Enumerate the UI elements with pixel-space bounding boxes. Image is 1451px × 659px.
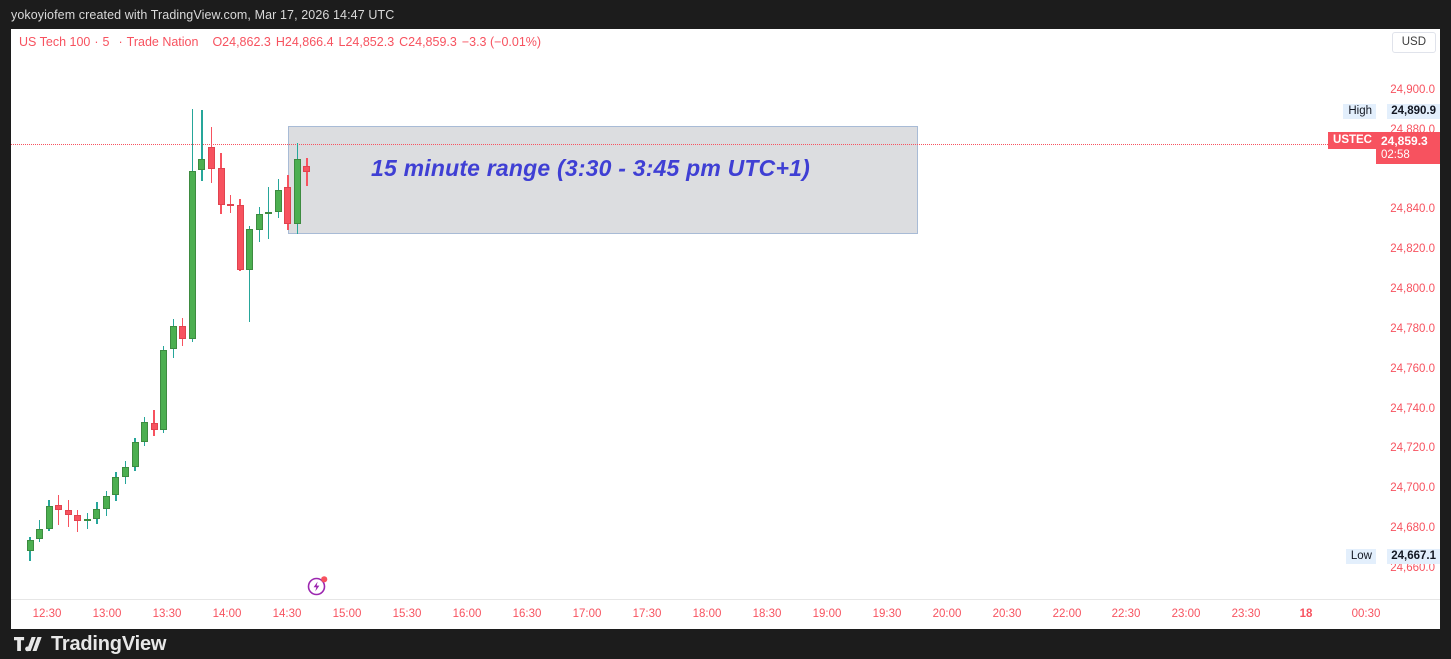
candle-body — [218, 168, 225, 204]
candle-body — [179, 326, 186, 340]
candle-body — [208, 147, 215, 169]
candlestick-series — [11, 29, 1376, 599]
bar-countdown: 02:58 — [1381, 149, 1436, 161]
candle-body — [93, 509, 100, 519]
price-tick: 24,740.0 — [1390, 403, 1435, 415]
candle-body — [227, 204, 234, 206]
time-tick: 20:30 — [993, 608, 1022, 620]
candle-body — [303, 166, 310, 172]
time-tick: 19:00 — [813, 608, 842, 620]
price-tick: 24,820.0 — [1390, 243, 1435, 255]
price-tick: 24,680.0 — [1390, 522, 1435, 534]
legend-interval[interactable]: 5 — [103, 35, 110, 49]
legend-low: L24,852.3 — [339, 35, 395, 49]
time-tick: 23:00 — [1172, 608, 1201, 620]
time-tick: 18:30 — [753, 608, 782, 620]
candle-body — [84, 519, 91, 521]
time-tick: 15:00 — [333, 608, 362, 620]
price-tick: 24,700.0 — [1390, 482, 1435, 494]
time-tick: 22:30 — [1112, 608, 1141, 620]
candle-body — [198, 159, 205, 170]
time-tick: 13:30 — [153, 608, 182, 620]
candle-body — [151, 423, 158, 430]
legend-close: C24,859.3 — [399, 35, 457, 49]
candle-body — [46, 506, 53, 529]
last-price-badge[interactable]: 24,859.3 02:58 — [1376, 132, 1440, 164]
candle-body — [122, 467, 129, 476]
candle-body — [246, 229, 253, 270]
time-tick: 16:30 — [513, 608, 542, 620]
candle-body — [189, 171, 196, 339]
time-tick: 19:30 — [873, 608, 902, 620]
candle-body — [36, 529, 43, 539]
chart-legend[interactable]: US Tech 100 · 5 · Trade Nation O24,862.3… — [19, 35, 546, 49]
time-scale[interactable]: 12:3013:0013:3014:0014:3015:0015:3016:00… — [11, 599, 1440, 629]
candle-wick — [201, 110, 202, 181]
price-tick: 24,900.0 — [1390, 84, 1435, 96]
candle-body — [103, 496, 110, 509]
time-tick: 18:00 — [693, 608, 722, 620]
attribution-text: yokoyiofem created with TradingView.com,… — [0, 8, 394, 22]
time-tick: 17:00 — [573, 608, 602, 620]
candle-body — [112, 477, 119, 495]
time-tick: 20:00 — [933, 608, 962, 620]
attribution-bar: yokoyiofem created with TradingView.com,… — [0, 0, 1451, 29]
legend-symbol[interactable]: US Tech 100 — [19, 35, 90, 49]
time-tick: 14:00 — [213, 608, 242, 620]
currency-badge[interactable]: USD — [1392, 32, 1436, 53]
price-scale[interactable]: USD 24,900.024,880.024,840.024,820.024,8… — [1376, 29, 1440, 599]
candle-body — [237, 205, 244, 270]
tradingview-logo-text: TradingView — [51, 633, 166, 656]
legend-separator-2: · — [118, 35, 122, 49]
legend-exchange[interactable]: Trade Nation — [127, 35, 199, 49]
candle-body — [170, 326, 177, 349]
candle-body — [275, 190, 282, 212]
tradingview-chart-screenshot: yokoyiofem created with TradingView.com,… — [0, 0, 1451, 659]
ticker-badge: USTEC — [1328, 132, 1376, 149]
footer-bar: TradingView — [0, 629, 1451, 659]
candle-body — [27, 540, 34, 552]
price-tick: 24,840.0 — [1390, 203, 1435, 215]
chart-plot-pane[interactable]: 15 minute range (3:30 - 3:45 pm UTC+1) U… — [11, 29, 1376, 599]
candle-body — [74, 515, 81, 521]
price-tick: 24,760.0 — [1390, 363, 1435, 375]
economic-event-icon[interactable] — [307, 575, 328, 596]
time-tick: 13:00 — [93, 608, 122, 620]
time-tick: 14:30 — [273, 608, 302, 620]
legend-high: H24,866.4 — [276, 35, 334, 49]
price-tick: 24,780.0 — [1390, 323, 1435, 335]
candle-body — [256, 214, 263, 230]
candle-body — [65, 510, 72, 516]
candle-body — [55, 505, 62, 510]
time-tick: 12:30 — [33, 608, 62, 620]
time-tick: 17:30 — [633, 608, 662, 620]
candle-body — [265, 212, 272, 214]
price-tick: 24,720.0 — [1390, 442, 1435, 454]
time-tick: 23:30 — [1232, 608, 1261, 620]
chart-frame: 15 minute range (3:30 - 3:45 pm UTC+1) U… — [11, 29, 1440, 629]
candle-body — [132, 442, 139, 467]
session-low-value: 24,667.1 — [1387, 549, 1440, 564]
legend-separator-1: · — [94, 35, 98, 49]
range-annotation-label[interactable]: 15 minute range (3:30 - 3:45 pm UTC+1) — [371, 155, 810, 182]
time-tick: 16:00 — [453, 608, 482, 620]
price-tick: 24,800.0 — [1390, 283, 1435, 295]
candle-body — [141, 422, 148, 442]
legend-open: O24,862.3 — [212, 35, 270, 49]
last-price-value: 24,859.3 — [1381, 134, 1436, 148]
time-tick: 15:30 — [393, 608, 422, 620]
time-tick: 00:30 — [1352, 608, 1381, 620]
candle-body — [284, 187, 291, 225]
candle-body — [160, 350, 167, 430]
tradingview-logo-icon — [14, 635, 42, 653]
candle-body — [294, 159, 301, 224]
session-high-value: 24,890.9 — [1387, 104, 1440, 119]
tradingview-logo: TradingView — [0, 633, 166, 656]
time-tick: 18 — [1300, 608, 1313, 620]
legend-change: −3.3 (−0.01%) — [462, 35, 541, 49]
time-tick: 22:00 — [1053, 608, 1082, 620]
